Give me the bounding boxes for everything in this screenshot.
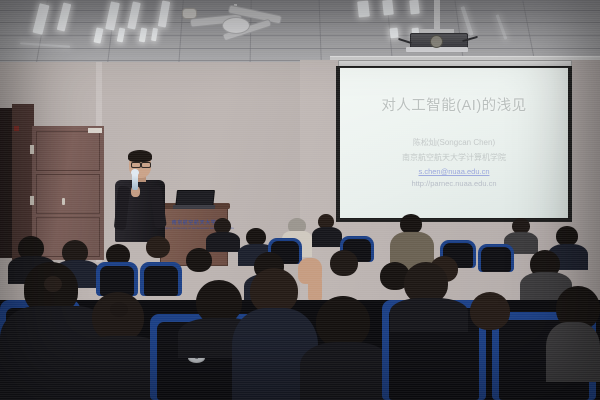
ceiling-fan [200, 4, 310, 44]
door-notice [30, 196, 34, 205]
auditorium-chair-back [481, 247, 511, 272]
audience-head-front [92, 292, 144, 342]
hair-bun [110, 302, 128, 317]
audience-head [146, 236, 170, 258]
ceiling-light [409, 0, 419, 14]
door-red-marker [14, 126, 19, 131]
audience-head-front [316, 296, 370, 348]
entrance-door[interactable] [32, 126, 104, 260]
audience-shoulders-front [546, 322, 600, 382]
auditorium-chair-back [144, 266, 178, 296]
forearm [308, 276, 322, 302]
hair-bun [44, 276, 62, 292]
projection-screen[interactable]: 对人工智能(AI)的浅见 陈松灿(Songcan Chen) 南京航空航天大学计… [340, 68, 568, 218]
ceiling-light [389, 28, 398, 39]
audience-shoulders-front [390, 298, 468, 332]
audience-shoulders [206, 232, 240, 252]
audience-head-front [470, 292, 510, 330]
slide-title: 对人工智能(AI)的浅见 [381, 94, 526, 115]
audience-head [330, 250, 358, 276]
microphone-head [131, 169, 139, 176]
projector-lens [430, 35, 443, 48]
door-notice [30, 145, 34, 154]
audience-head [556, 226, 578, 246]
ceiling-light [382, 0, 394, 15]
audience-shoulders [312, 227, 342, 247]
slide-organization: 南京航空航天大学计算机学院 [402, 152, 506, 163]
door-panel-middle [36, 174, 100, 214]
lecture-hall-photo: 对人工智能(AI)的浅见 陈松灿(Songcan Chen) 南京航空航天大学计… [0, 0, 600, 400]
slide-email-link[interactable]: s.chen@nuaa.edu.cn [419, 167, 490, 176]
audience-head [186, 248, 212, 272]
ceiling-light [357, 0, 370, 17]
speaker-glasses [131, 162, 141, 168]
door-panel-upper [36, 131, 100, 171]
presentation-slide: 对人工智能(AI)的浅见 陈松灿(Songcan Chen) 南京航空航天大学计… [340, 68, 568, 218]
audience-shoulders-front [300, 342, 392, 400]
door-sign [88, 128, 102, 133]
slide-url: http://parnec.nuaa.edu.cn [411, 179, 496, 188]
door-handle[interactable] [62, 198, 65, 205]
slide-author: 陈松灿(Songcan Chen) [413, 137, 495, 148]
audience-head [400, 214, 422, 234]
speaker-glasses [141, 162, 151, 168]
laptop-keyboard-base [173, 205, 215, 209]
projector-mount-rod [434, 0, 440, 30]
speaker-hair [128, 150, 152, 162]
